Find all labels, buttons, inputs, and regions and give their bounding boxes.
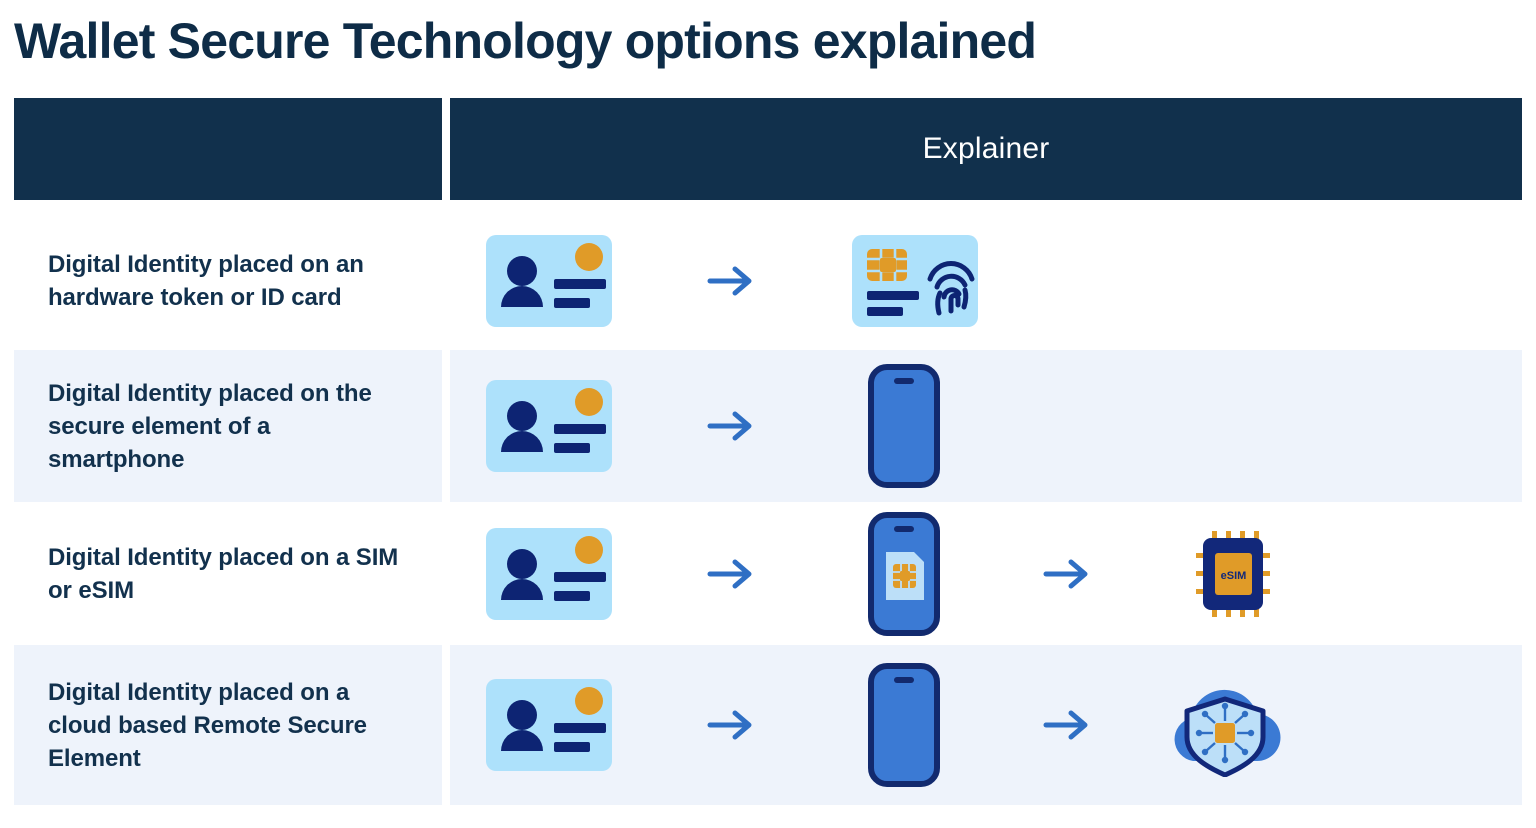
table-row: Digital Identity placed on an hardware t… [14,212,1522,350]
id-card-icon [486,528,612,620]
page-title: Wallet Secure Technology options explain… [14,8,1414,74]
id-card-icon [486,679,612,771]
row-label-text: Digital Identity placed on the secure el… [48,377,408,476]
arrow-right-icon [700,258,764,304]
table-row: Digital Identity placed on the secure el… [14,350,1522,502]
row-explainer-cell [450,350,1522,502]
row-label-text: Digital Identity placed on a cloud based… [48,676,408,775]
table-header-row: Explainer [14,98,1522,200]
smartphone-icon [868,663,940,787]
table-row: Digital Identity placed on a cloud based… [14,645,1522,805]
cloud-secure-element-icon [1160,673,1290,777]
svg-text:eSIM: eSIM [1221,570,1247,582]
smart-card-chip-fingerprint-icon [852,235,978,327]
row-label-text: Digital Identity placed on a SIM or eSIM [48,541,408,607]
row-explainer-cell [450,212,1522,350]
row-label-cell: Digital Identity placed on the secure el… [14,350,442,502]
id-card-icon [486,380,612,472]
row-label-cell: Digital Identity placed on a SIM or eSIM [14,502,442,645]
row-label-cell: Digital Identity placed on a cloud based… [14,645,442,805]
explainer-table: Explainer Digital Identity placed on an … [14,98,1522,805]
table-header-explainer-label: Explainer [923,132,1050,166]
row-explainer-cell [450,645,1522,805]
arrow-right-icon [700,702,764,748]
table-header-left-cell [14,98,442,200]
esim-chip-icon: eSIM [1196,529,1270,619]
table-header-right-cell: Explainer [450,98,1522,200]
row-explainer-cell: eSIM [450,502,1522,645]
arrow-right-icon [1036,551,1100,597]
id-card-icon [486,235,612,327]
smartphone-icon [868,364,940,488]
arrow-right-icon [700,551,764,597]
infographic-page: Wallet Secure Technology options explain… [0,0,1536,828]
arrow-right-icon [700,403,764,449]
arrow-right-icon [1036,702,1100,748]
smartphone-with-sim-icon [868,512,940,636]
row-label-cell: Digital Identity placed on an hardware t… [14,212,442,350]
row-label-text: Digital Identity placed on an hardware t… [48,248,408,314]
table-row: Digital Identity placed on a SIM or eSIM [14,502,1522,645]
